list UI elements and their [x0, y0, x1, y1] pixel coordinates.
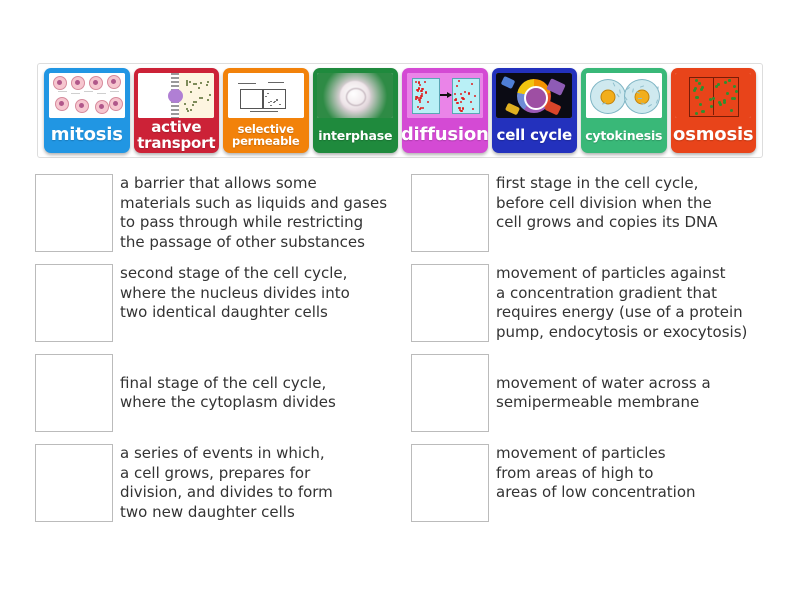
- tile-mitosis[interactable]: mitosis: [44, 68, 130, 153]
- tile-label: cell cycle: [496, 120, 574, 151]
- answer-row: first stage in the cell cycle, before ce…: [411, 174, 771, 252]
- tile-interphase[interactable]: interphase: [313, 68, 399, 153]
- answer-row: a barrier that allows some materials suc…: [35, 174, 395, 252]
- answer-row: a series of events in which, a cell grow…: [35, 444, 395, 522]
- definition-text: first stage in the cell cycle, before ce…: [496, 174, 771, 233]
- dropzone-left-2[interactable]: [35, 264, 113, 342]
- definition-text: movement of particles from areas of high…: [496, 444, 771, 503]
- diffusion-beakers-thumbnail: [407, 73, 483, 118]
- selective-permeable-diagram-thumbnail: [228, 73, 304, 118]
- tile-label: mitosis: [48, 120, 126, 151]
- dropzone-right-2[interactable]: [411, 264, 489, 342]
- definition-text: second stage of the cell cycle, where th…: [120, 264, 395, 323]
- dropzone-right-3[interactable]: [411, 354, 489, 432]
- definition-text: movement of water across a semipermeable…: [496, 374, 771, 413]
- definition-text: movement of particles against a concentr…: [496, 264, 771, 342]
- dropzone-left-3[interactable]: [35, 354, 113, 432]
- tile-label: interphase: [317, 120, 395, 151]
- cell-cycle-wheel-thumbnail: [496, 73, 572, 118]
- osmosis-membrane-thumbnail: [675, 73, 751, 118]
- tile-label: active transport: [138, 120, 216, 151]
- tile-selective-permeable[interactable]: selective permeable: [223, 68, 309, 153]
- tile-osmosis[interactable]: osmosis: [671, 68, 757, 153]
- tile-label: selective permeable: [227, 120, 305, 151]
- answer-row: final stage of the cell cycle, where the…: [35, 354, 395, 432]
- active-transport-diagram-thumbnail: [138, 73, 214, 118]
- answers-left-column: a barrier that allows some materials suc…: [35, 174, 395, 534]
- cytokinesis-cells-thumbnail: [586, 73, 662, 118]
- tile-label: diffusion: [406, 120, 484, 151]
- dropzone-right-4[interactable]: [411, 444, 489, 522]
- dropzone-right-1[interactable]: [411, 174, 489, 252]
- dropzone-left-1[interactable]: [35, 174, 113, 252]
- answer-row: movement of water across a semipermeable…: [411, 354, 771, 432]
- mitosis-diagram-thumbnail: [49, 73, 125, 118]
- definition-text: a barrier that allows some materials suc…: [120, 174, 395, 252]
- answer-row: movement of particles from areas of high…: [411, 444, 771, 522]
- definition-text: final stage of the cell cycle, where the…: [120, 374, 395, 413]
- draggable-tile-bank[interactable]: mitosisactive transportselective permeab…: [37, 63, 763, 158]
- answer-row: second stage of the cell cycle, where th…: [35, 264, 395, 342]
- dropzone-left-4[interactable]: [35, 444, 113, 522]
- tile-diffusion[interactable]: diffusion: [402, 68, 488, 153]
- answer-row: movement of particles against a concentr…: [411, 264, 771, 342]
- tile-active-transport[interactable]: active transport: [134, 68, 220, 153]
- tile-cytokinesis[interactable]: cytokinesis: [581, 68, 667, 153]
- answers-right-column: first stage in the cell cycle, before ce…: [411, 174, 771, 534]
- tile-label: osmosis: [675, 120, 753, 151]
- tile-cell cycle[interactable]: cell cycle: [492, 68, 578, 153]
- interphase-cell-thumbnail: [317, 73, 393, 118]
- definition-text: a series of events in which, a cell grow…: [120, 444, 395, 522]
- tile-label: cytokinesis: [585, 120, 663, 151]
